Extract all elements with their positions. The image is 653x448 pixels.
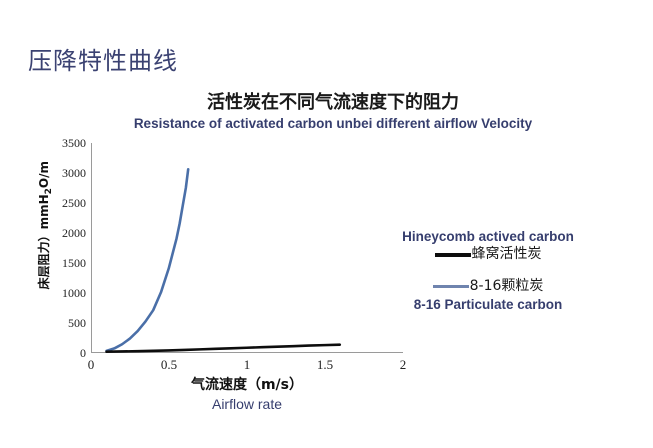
plot-area	[91, 143, 402, 352]
legend-spacer	[368, 264, 608, 277]
series-line-particulate-carbon	[107, 169, 189, 351]
y-tick-label: 3500	[42, 137, 86, 149]
legend-swatch-black-line-icon	[435, 253, 471, 257]
legend-swatch-blue-line-icon	[433, 285, 469, 288]
y-tick-label: 3000	[42, 167, 86, 179]
legend-label-honeycomb-chinese: 蜂窝活性炭	[472, 246, 542, 263]
legend-item-particulate: 8-16颗粒炭	[368, 277, 608, 296]
chart-title-english: Resistance of activated carbon unbei dif…	[83, 115, 583, 132]
x-axis-title-english: Airflow rate	[91, 395, 403, 413]
chart-container: 活性炭在不同气流速度下的阻力 Resistance of activated c…	[28, 88, 628, 428]
legend-caption-honeycomb-english: Hineycomb actived carbon	[368, 228, 608, 245]
plot-svg	[91, 143, 402, 352]
x-tick-label: 1.5	[305, 358, 345, 372]
chart-legend: Hineycomb actived carbon 蜂窝活性炭 8-16颗粒炭 8…	[368, 228, 608, 313]
x-tick-label: 1	[227, 358, 267, 372]
x-axis-title-chinese: 气流速度（m/s）	[91, 376, 403, 394]
chart-title-chinese: 活性炭在不同气流速度下的阻力	[123, 92, 543, 114]
x-tick-label: 2	[383, 358, 423, 372]
legend-caption-particulate-english: 8-16 Particulate carbon	[368, 296, 608, 313]
y-tick-label: 500	[42, 317, 86, 329]
y-tick-label: 2000	[42, 227, 86, 239]
legend-item-honeycomb: 蜂窝活性炭	[368, 245, 608, 264]
x-tick-label: 0	[71, 358, 111, 372]
slide-canvas: 压降特性曲线 活性炭在不同气流速度下的阻力 Resistance of acti…	[0, 0, 653, 448]
y-tick-label: 2500	[42, 197, 86, 209]
series-line-honeycomb-carbon	[107, 345, 340, 352]
legend-label-particulate-chinese: 8-16颗粒炭	[470, 278, 544, 295]
page-title: 压降特性曲线	[28, 46, 178, 76]
x-tick-label: 0.5	[149, 358, 189, 372]
y-tick-label: 1500	[42, 257, 86, 269]
y-tick-label: 1000	[42, 287, 86, 299]
